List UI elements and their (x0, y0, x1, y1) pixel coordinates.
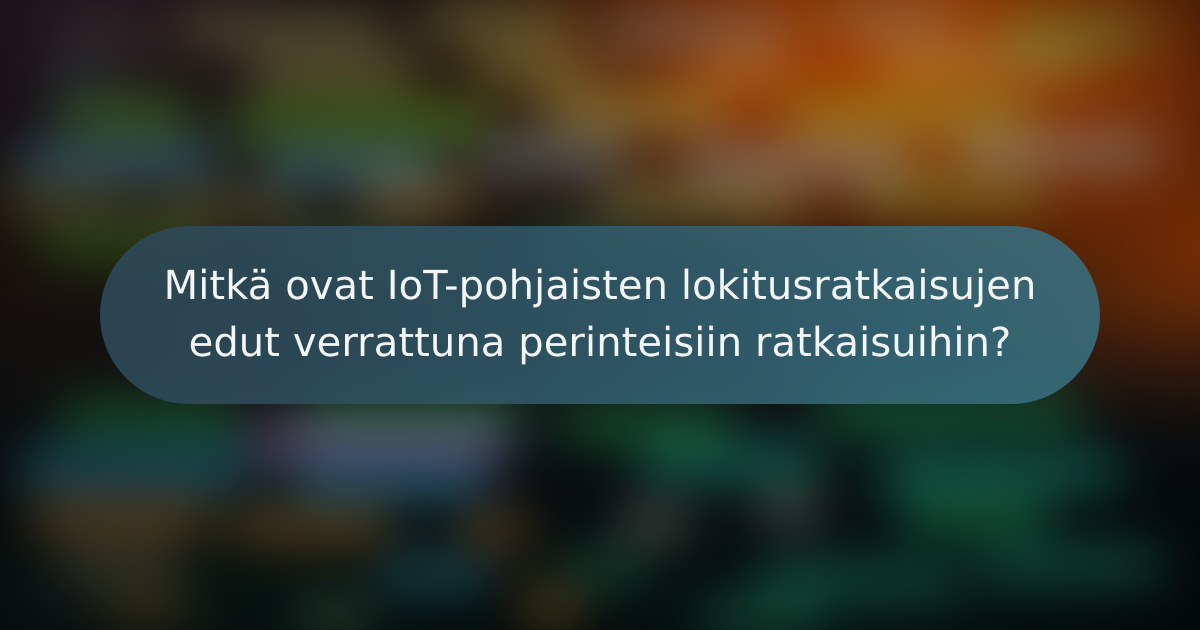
question-pill: Mitkä ovat IoT-pohjaisten lokitusratkais… (100, 226, 1100, 404)
code-line (640, 452, 820, 472)
code-line (260, 158, 440, 176)
code-line (480, 146, 630, 164)
code-line (60, 104, 190, 122)
code-line (250, 64, 420, 80)
question-text: Mitkä ovat IoT-pohjaisten lokitusratkais… (164, 258, 1037, 372)
code-line (176, 20, 386, 36)
texture-patch (0, 560, 90, 630)
code-line (470, 58, 590, 74)
code-line (520, 598, 580, 616)
code-line (960, 142, 1160, 160)
code-line (560, 560, 650, 578)
code-line (150, 200, 300, 216)
code-line (56, 28, 148, 42)
code-line (230, 112, 490, 130)
code-line (600, 22, 790, 38)
code-line (700, 66, 790, 82)
code-line (760, 572, 960, 590)
code-line (20, 458, 250, 478)
code-line (540, 100, 720, 118)
texture-patch (1090, 0, 1200, 120)
code-line (250, 432, 510, 452)
code-line (20, 150, 220, 168)
code-line (700, 608, 820, 626)
code-line (620, 512, 690, 532)
code-line (680, 154, 910, 172)
code-line (880, 462, 1120, 482)
code-line (820, 402, 1080, 420)
code-line (360, 188, 480, 204)
code-line (100, 600, 190, 618)
og-card: Mitkä ovat IoT-pohjaisten lokitusratkais… (0, 0, 1200, 630)
code-line (380, 566, 490, 584)
code-line (980, 556, 1160, 574)
code-line (760, 500, 820, 520)
code-line (230, 516, 390, 536)
code-line (600, 196, 800, 212)
code-line (460, 520, 530, 540)
code-line (0, 192, 130, 208)
code-line (880, 56, 1090, 72)
code-line (60, 410, 240, 428)
code-line (40, 72, 110, 88)
code-line (420, 12, 570, 28)
code-line (300, 404, 520, 422)
code-line (560, 414, 730, 432)
code-line (790, 108, 1030, 126)
texture-patch (30, 508, 160, 536)
code-line (830, 10, 960, 24)
code-line (290, 470, 490, 490)
code-line (860, 186, 1040, 202)
code-line (300, 606, 370, 624)
code-line (900, 506, 1050, 526)
